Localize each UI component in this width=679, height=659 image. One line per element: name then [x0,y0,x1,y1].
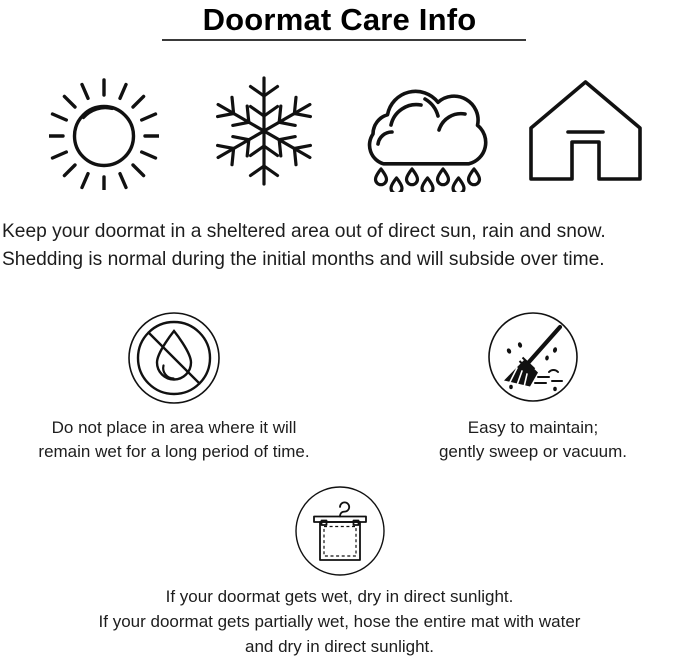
intro-line-1: Keep your doormat in a sheltered area ou… [2,218,679,246]
sun-icon [49,72,159,190]
title-underline-divider [162,39,526,41]
snowflake-icon-cell [179,72,349,197]
tip-no-water-line-1: Do not place in area where it will [4,416,344,440]
house-icon [523,72,648,190]
broom-icon [486,310,580,404]
tip-no-water-caption: Do not place in area where it will remai… [4,416,344,464]
page-title: Doormat Care Info [0,2,679,38]
rain-cloud-icon-cell [340,72,510,197]
snowflake-icon [209,72,319,190]
drying-instructions: If your doormat gets wet, dry in direct … [0,484,679,659]
care-tips-row: Do not place in area where it will remai… [0,310,679,460]
tip-sweep-line-2: gently sweep or vacuum. [388,440,678,464]
tip-sweep-line-1: Easy to maintain; [388,416,678,440]
no-water-icon [126,310,222,406]
hang-to-dry-icon [293,484,387,578]
drying-caption: If your doormat gets wet, dry in direct … [0,584,679,659]
tip-no-water-line-2: remain wet for a long period of time. [4,440,344,464]
broom-icon-wrap [388,310,678,410]
care-info-page: Doormat Care Info [0,0,679,655]
intro-line-2: Shedding is normal during the initial mo… [2,246,679,274]
drying-line-3: and dry in direct sunlight. [0,634,679,659]
intro-paragraph: Keep your doormat in a sheltered area ou… [2,218,679,274]
weather-icon-row [0,72,679,197]
hang-to-dry-icon-wrap [0,484,679,582]
drying-line-2: If your doormat gets partially wet, hose… [0,609,679,634]
tip-sweep-caption: Easy to maintain; gently sweep or vacuum… [388,416,678,464]
house-icon-cell [500,72,670,197]
tip-sweep: Easy to maintain; gently sweep or vacuum… [388,310,678,464]
tip-no-water: Do not place in area where it will remai… [4,310,344,464]
rain-cloud-icon [355,72,495,192]
no-water-icon-wrap [4,310,344,410]
drying-line-1: If your doormat gets wet, dry in direct … [0,584,679,609]
sun-icon-cell [19,72,189,197]
page-header: Doormat Care Info [0,0,679,38]
